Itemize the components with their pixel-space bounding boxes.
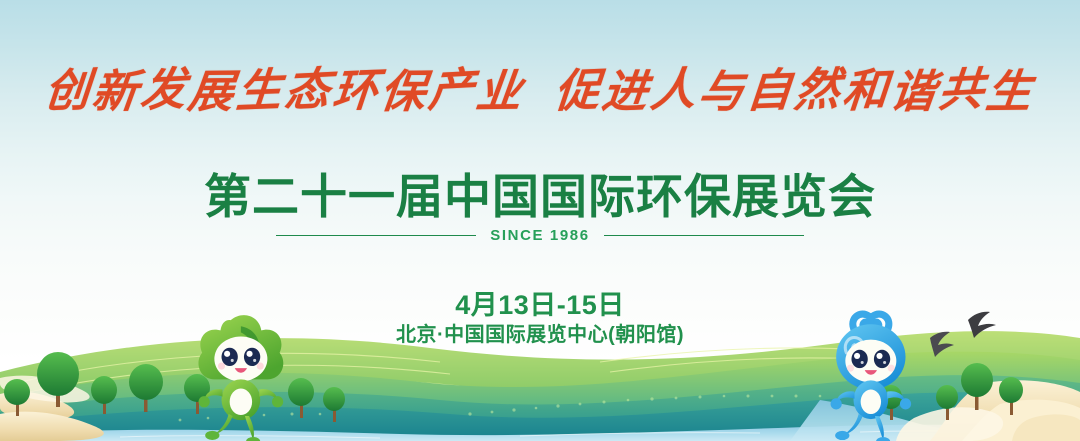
exhibition-title: 第二十一届中国国际环保展览会 <box>0 172 1080 221</box>
tree-group-center <box>184 374 345 422</box>
since-label: SINCE 1986 <box>490 227 589 244</box>
since-row: SINCE 1986 <box>0 227 1080 244</box>
since-rule-right <box>604 235 804 236</box>
tree-group-left <box>4 352 163 416</box>
exhibition-banner: 创新发展生态环保产业促进人与自然和谐共生 第二十一届中国国际环保展览会 SINC… <box>0 0 1080 441</box>
since-rule-left <box>276 235 476 236</box>
event-date: 4月13日-15日 <box>0 283 1080 322</box>
slogan-part-1: 创新发展生态环保产业 <box>45 54 525 119</box>
slogan-part-2: 促进人与自然和谐共生 <box>555 54 1035 119</box>
event-venue: 北京·中国国际展览中心(朝阳馆) <box>0 318 1080 347</box>
banner-slogan: 创新发展生态环保产业促进人与自然和谐共生 <box>0 54 1080 119</box>
tree-group-right <box>880 363 1023 420</box>
